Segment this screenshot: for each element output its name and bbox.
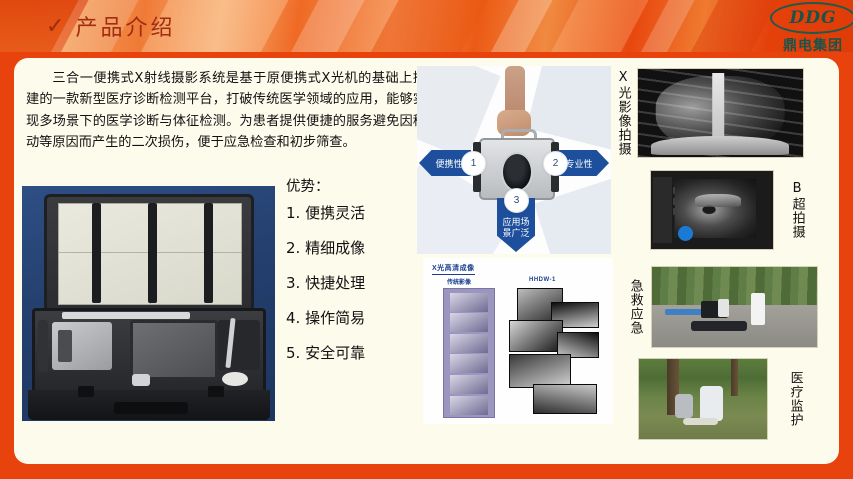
header-streak — [465, 0, 568, 52]
xray-figure-title: X光高清成像 — [432, 263, 475, 275]
case-front-face — [28, 390, 270, 420]
diaphragm — [651, 136, 790, 155]
scenario-emergency: 急救应急 — [626, 266, 818, 348]
header-streak — [525, 0, 664, 52]
patient-figure — [691, 321, 747, 331]
feature-number-2: 2 — [543, 151, 568, 176]
film-frame — [450, 313, 488, 332]
case-strap — [148, 203, 157, 303]
scenario-label-monitoring: 医疗监护 — [786, 371, 803, 427]
doctor-figure — [751, 293, 766, 325]
advantage-item-1: 1. 便携灵活 — [286, 206, 414, 221]
logo-ellipse-icon: DDG — [770, 2, 853, 34]
scenario-xray-imaging: X光影像拍摄 — [614, 68, 804, 158]
film-frame — [450, 396, 488, 415]
case-bottom-tray — [32, 308, 266, 394]
feature-label-portability: 便携性 — [435, 157, 462, 170]
slide-header: ✓ 产品介绍 DDG 鼎电集团 — [0, 0, 853, 52]
content-panel: 三合一便携式X射线摄影系统是基于原便携式X光机的基础上搭建的一款新型医疗诊断检测… — [14, 58, 839, 464]
chest-xray-image — [637, 68, 804, 158]
assistant-figure — [718, 299, 730, 317]
advantages-list: 优势： 1. 便携灵活 2. 精细成像 3. 快捷处理 4. 操作简易 5. 安… — [286, 180, 414, 381]
page-title-group: ✓ 产品介绍 — [46, 10, 175, 42]
feature-infographic: 便携性 专业性 应用场景广泛 1 2 3 — [417, 66, 611, 254]
page-title: 产品介绍 — [75, 10, 175, 42]
device-lens — [501, 152, 533, 192]
scenario-monitoring: 医疗监护 — [638, 358, 803, 440]
xray-generator-unit — [52, 322, 112, 370]
advantage-item-2: 2. 精细成像 — [286, 241, 414, 256]
device-sidebar — [653, 177, 671, 243]
accessory-bar — [62, 312, 190, 319]
field-medical-monitoring-photo — [638, 358, 768, 440]
advantage-item-5: 5. 安全可靠 — [286, 346, 414, 361]
emergency-response-photo — [651, 266, 818, 348]
case-handle — [114, 402, 188, 414]
feature-label-professionalism: 专业性 — [565, 157, 592, 170]
hd-xray-thumb — [509, 354, 571, 388]
hd-xray-thumb — [509, 320, 563, 352]
scenario-ultrasound: B超拍摄 — [650, 170, 805, 250]
film-frame — [450, 354, 488, 373]
tablet-console — [130, 320, 218, 380]
portable-xray-case-photo — [22, 186, 275, 421]
header-streak — [265, 0, 380, 52]
feature-number-1: 1 — [461, 151, 486, 176]
logo-mark-text: DDG — [789, 8, 836, 28]
xray-column-hhdw: HHDW-1 — [529, 277, 556, 283]
case-strap — [92, 203, 101, 303]
case-latch — [208, 386, 224, 397]
feature-label-applications: 应用场景广泛 — [502, 217, 529, 240]
case-latch — [78, 386, 94, 397]
ultrasound-tissue-band — [695, 194, 742, 207]
scenario-label-ultrasound: B超拍摄 — [788, 181, 805, 239]
power-button-icon — [678, 226, 693, 241]
case-strap — [204, 203, 213, 303]
logo-company-name: 鼎电集团 — [765, 35, 853, 52]
header-streak — [615, 0, 710, 52]
film-frame — [450, 375, 488, 394]
ultrasound-device-image — [650, 170, 774, 250]
film-frame — [450, 293, 488, 312]
company-logo: DDG 鼎电集团 — [765, 2, 853, 52]
feature-number-3: 3 — [504, 188, 529, 213]
scenario-column: X光影像拍摄 — [614, 58, 839, 464]
xray-column-traditional: 传统影像 — [447, 277, 471, 286]
advantage-item-3: 3. 快捷处理 — [286, 276, 414, 291]
foam-insert — [218, 320, 260, 370]
traditional-film-strip — [443, 288, 495, 418]
case-lid — [44, 194, 254, 312]
advantages-title: 优势： — [286, 180, 414, 195]
seated-person — [675, 394, 693, 418]
tree-trunk — [731, 359, 737, 396]
ultrasound-probe — [222, 372, 248, 386]
foam-insert — [38, 320, 48, 372]
slide-root: ✓ 产品介绍 DDG 鼎电集团 三合一便携式X射线摄影系统是基于原便携式X光机的… — [0, 0, 853, 479]
hd-xray-thumb — [533, 384, 597, 414]
generator-grip — [58, 330, 72, 362]
film-frame — [450, 334, 488, 353]
tree-background — [652, 267, 817, 307]
checkmark-icon: ✓ — [46, 15, 64, 37]
xray-comparison-figure: X光高清成像 传统影像 HHDW-1 — [423, 258, 613, 424]
scenario-label-emergency: 急救应急 — [626, 279, 643, 335]
scenario-label-xray: X光影像拍摄 — [614, 70, 631, 156]
header-streak — [345, 0, 504, 52]
standing-person — [700, 386, 723, 421]
product-description-paragraph: 三合一便携式X射线摄影系统是基于原便携式X光机的基础上搭建的一款新型医疗诊断检测… — [26, 68, 426, 154]
ground-equipment — [683, 418, 719, 424]
small-accessory — [132, 374, 150, 386]
advantage-item-4: 4. 操作简易 — [286, 311, 414, 326]
